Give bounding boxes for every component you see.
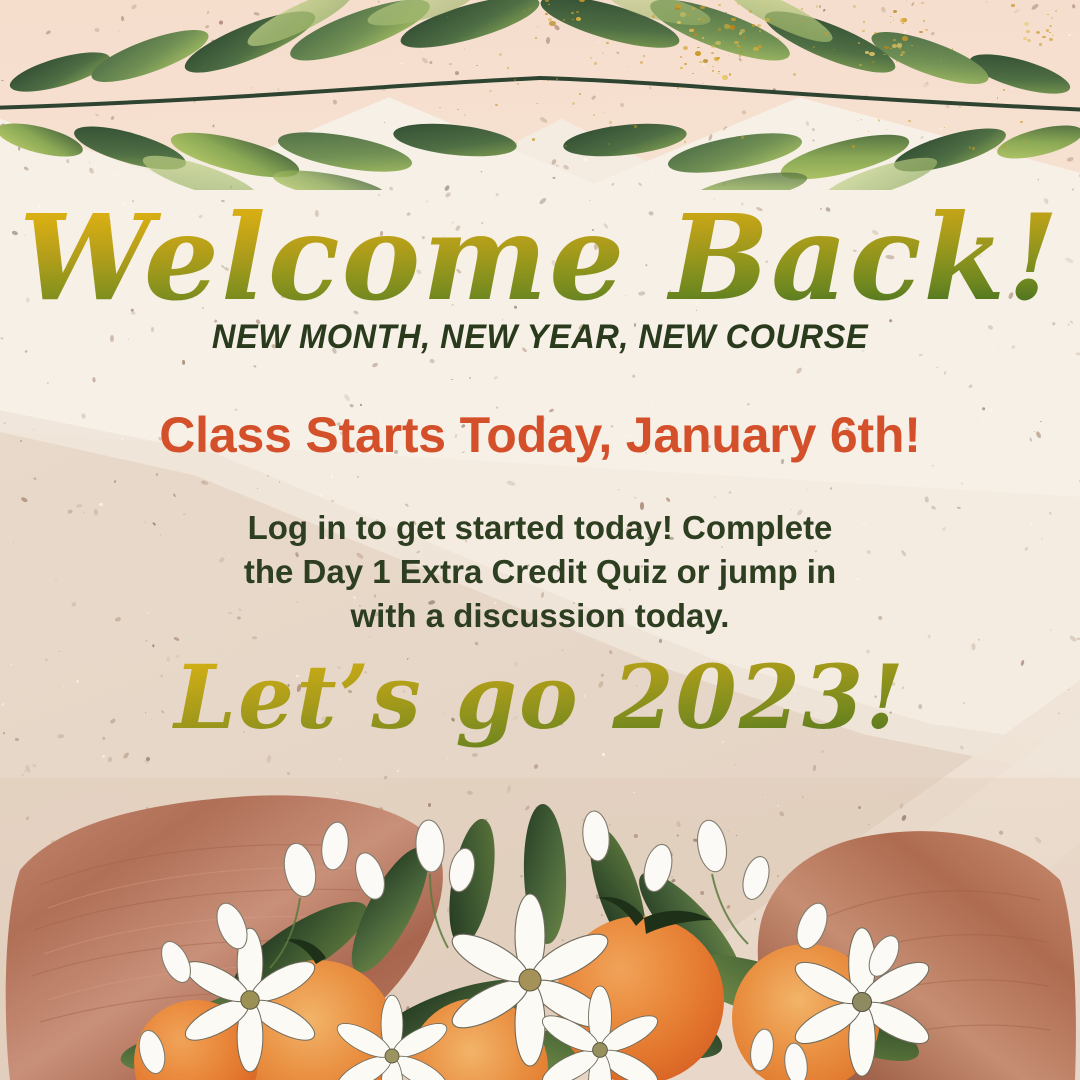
class-start-headline: Class Starts Today, January 6th! [0, 406, 1080, 464]
closing-script: Let’s go 2023! [0, 645, 1080, 749]
body-line-1: Log in to get started today! Complete [0, 506, 1080, 550]
body-line-3: with a discussion today. [0, 594, 1080, 638]
page-title-script: Welcome Back! [0, 196, 1080, 320]
welcome-back-poster: Welcome Back! NEW MONTH, NEW YEAR, NEW C… [0, 0, 1080, 1080]
subtitle-tagline: NEW MONTH, NEW YEAR, NEW COURSE [22, 318, 1059, 357]
body-line-2: the Day 1 Extra Credit Quiz or jump in [0, 550, 1080, 594]
body-copy: Log in to get started today! Complete th… [0, 506, 1080, 638]
poster-text-content: Welcome Back! NEW MONTH, NEW YEAR, NEW C… [0, 0, 1080, 1080]
